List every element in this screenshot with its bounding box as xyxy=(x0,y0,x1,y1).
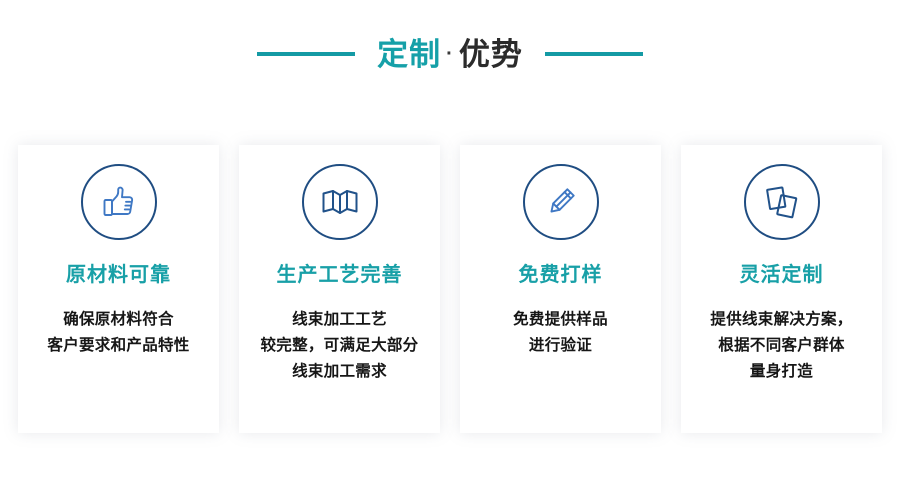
folded-map-icon xyxy=(302,164,378,240)
body-line: 提供线束解决方案， xyxy=(687,307,876,333)
feature-card-body: 确保原材料符合 客户要求和产品特性 xyxy=(18,307,219,359)
stacked-cards-icon xyxy=(744,164,820,240)
feature-card-body: 提供线束解决方案， 根据不同客户群体 量身打造 xyxy=(681,307,882,385)
feature-card-free-sampling[interactable]: 免费打样 免费提供样品 进行验证 xyxy=(460,145,661,433)
thumbs-up-icon xyxy=(81,164,157,240)
pencil-icon xyxy=(523,164,599,240)
feature-card-flexible-customization[interactable]: 灵活定制 提供线束解决方案， 根据不同客户群体 量身打造 xyxy=(681,145,882,433)
body-line: 根据不同客户群体 xyxy=(687,333,876,359)
feature-card-list: 原材料可靠 确保原材料符合 客户要求和产品特性 生产工艺完善 线束加工工艺 较完… xyxy=(18,145,882,433)
body-line: 进行验证 xyxy=(466,333,655,359)
page-title-separator: · xyxy=(444,44,456,64)
page-title-main: 优势 xyxy=(459,39,523,70)
body-line: 客户要求和产品特性 xyxy=(24,333,213,359)
feature-card-body: 线束加工工艺 较完整，可满足大部分 线束加工需求 xyxy=(239,307,440,385)
body-line: 线束加工工艺 xyxy=(245,307,434,333)
feature-card-raw-material[interactable]: 原材料可靠 确保原材料符合 客户要求和产品特性 xyxy=(18,145,219,433)
body-line: 线束加工需求 xyxy=(245,359,434,385)
feature-card-title: 灵活定制 xyxy=(740,265,824,285)
feature-card-body: 免费提供样品 进行验证 xyxy=(460,307,661,359)
page-title-accent: 定制 xyxy=(377,39,441,70)
body-line: 免费提供样品 xyxy=(466,307,655,333)
page-title: 定制 · 优势 xyxy=(377,39,523,70)
feature-card-title: 生产工艺完善 xyxy=(277,265,403,285)
heading-rule-right xyxy=(545,52,643,56)
feature-card-title: 原材料可靠 xyxy=(66,265,171,285)
body-line: 较完整，可满足大部分 xyxy=(245,333,434,359)
body-line: 确保原材料符合 xyxy=(24,307,213,333)
feature-card-title: 免费打样 xyxy=(519,265,603,285)
feature-card-production-process[interactable]: 生产工艺完善 线束加工工艺 较完整，可满足大部分 线束加工需求 xyxy=(239,145,440,433)
body-line: 量身打造 xyxy=(687,359,876,385)
section-header: 定制 · 优势 xyxy=(0,28,900,80)
heading-rule-left xyxy=(257,52,355,56)
